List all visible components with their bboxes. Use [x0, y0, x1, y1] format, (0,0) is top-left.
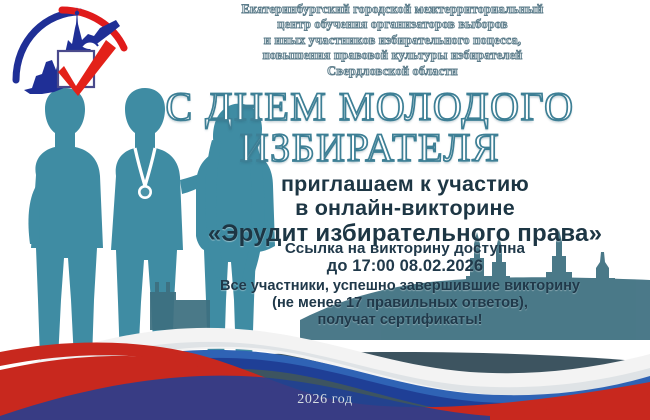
organization-line-1: Екатеринбургский городской межтерриториа… [145, 2, 640, 17]
organization-line-3: и иных участников избирательного поцесса… [145, 33, 640, 48]
organization-line-2: центр обучения организаторов выборов [145, 17, 640, 32]
invitation-line-2: в онлайн-викторине [160, 197, 650, 221]
organization-header: Екатеринбургский городской межтерриториа… [145, 2, 640, 79]
invitation-block: приглашаем к участию в онлайн-викторине … [160, 173, 650, 247]
poster-title: С ДНЕМ МОЛОДОГО ИЗБИРАТЕЛЯ [90, 86, 650, 168]
certificate-note: Все участники, успешно завершившие викто… [150, 278, 650, 330]
deadline-text: до 17:00 08.02.2026 [160, 257, 650, 276]
poster-root: Екатеринбургский городской межтерриториа… [0, 0, 650, 420]
title-line-2: ИЗБИРАТЕЛЯ [90, 127, 650, 168]
quiz-details: Ссылка на викторину доступна до 17:00 08… [160, 240, 650, 276]
title-line-1: С ДНЕМ МОЛОДОГО [90, 86, 650, 127]
note-line-2: (не менее 17 правильных ответов), [150, 295, 650, 312]
link-availability-text: Ссылка на викторину доступна [160, 240, 650, 257]
organization-line-5: Свердловской области [145, 64, 640, 79]
note-line-1: Все участники, успешно завершившие викто… [150, 278, 650, 295]
note-line-3: получат сертификаты! [150, 312, 650, 329]
election-center-emblem [2, 0, 134, 98]
invitation-line-1: приглашаем к участию [160, 173, 650, 197]
footer-year: 2026 год [0, 392, 650, 408]
organization-line-4: повышения правовой культуры избирателей [145, 48, 640, 63]
